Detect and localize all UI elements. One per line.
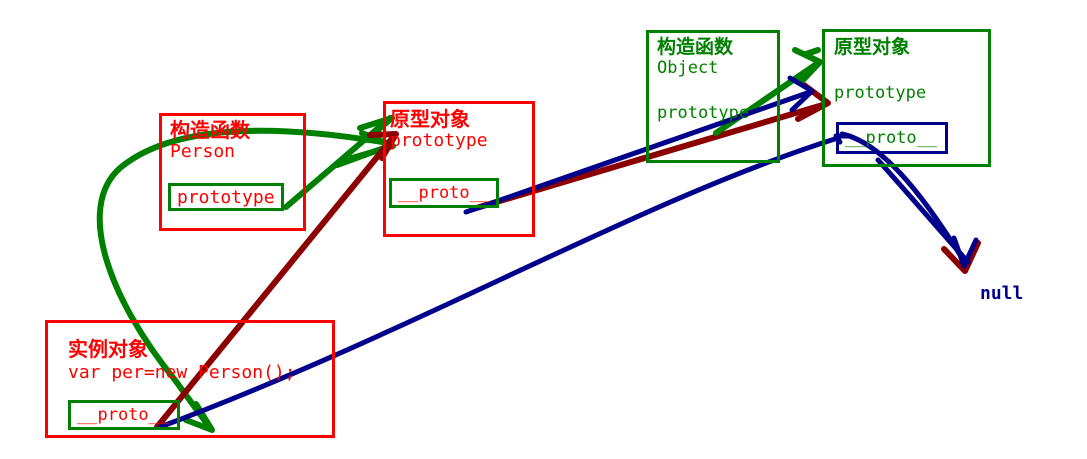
object-prototype-proto-slot[interactable]: __proto__ bbox=[836, 122, 948, 154]
person-constructor-prototype-slot[interactable]: prototype bbox=[168, 183, 284, 211]
object-constructor-subtitle: Object bbox=[657, 60, 718, 78]
instance-object-proto-label: __proto__ bbox=[71, 405, 169, 425]
instance-object-subtitle: var per=new Person(); bbox=[68, 364, 296, 383]
instance-object-heading: 实例对象 bbox=[68, 339, 148, 360]
object-prototype-subtitle: prototype bbox=[834, 85, 926, 103]
instance-object-proto-slot[interactable]: __proto__ bbox=[68, 400, 180, 430]
person-constructor-heading: 构造函数 bbox=[170, 120, 250, 141]
object-prototype-proto-label: __proto__ bbox=[839, 128, 937, 148]
person-prototype-heading: 原型对象 bbox=[390, 109, 470, 130]
null-terminal-label: null bbox=[980, 283, 1023, 304]
object-constructor-prototype-label: prototype bbox=[657, 105, 749, 123]
edge-objproto-to-null bbox=[944, 243, 978, 271]
person-prototype-subtitle: prototype bbox=[390, 132, 488, 151]
person-constructor-subtitle: Person bbox=[170, 143, 235, 162]
object-constructor-heading: 构造函数 bbox=[657, 38, 733, 58]
person-prototype-proto-slot[interactable]: __proto__ bbox=[389, 178, 499, 208]
person-constructor-prototype-label: prototype bbox=[171, 187, 275, 208]
person-prototype-proto-label: __proto__ bbox=[392, 183, 490, 203]
object-prototype-heading: 原型对象 bbox=[834, 38, 910, 58]
diagram-canvas: 构造函数 Person prototype 原型对象 prototype __p… bbox=[0, 0, 1087, 459]
